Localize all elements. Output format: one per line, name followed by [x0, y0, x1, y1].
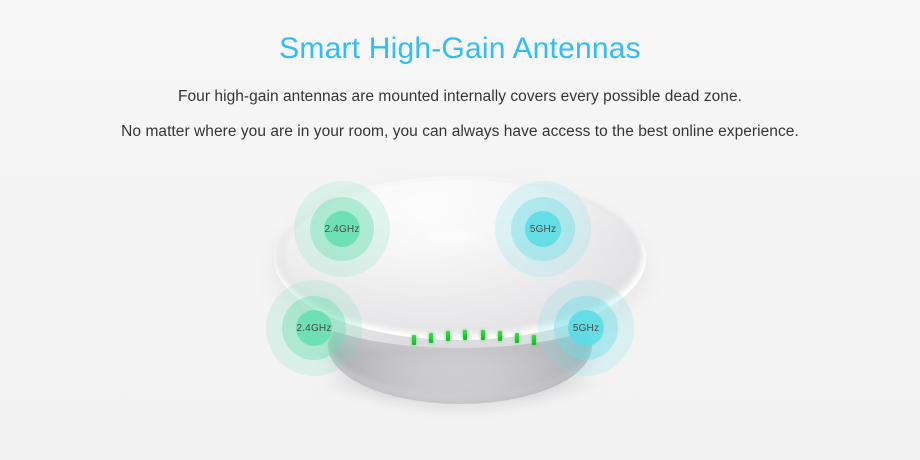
- router-led-indicator: [429, 333, 433, 343]
- header: Smart High-Gain Antennas Four high-gain …: [0, 0, 920, 143]
- signal-label-2-4ghz-bottom-left: 2.4GHz: [296, 323, 331, 334]
- router-led-indicator: [498, 331, 502, 341]
- signal-badge-bottom-left: 2.4GHz: [266, 280, 362, 376]
- signal-badge-top-right: 5GHz: [495, 181, 591, 277]
- page-title: Smart High-Gain Antennas: [0, 0, 920, 68]
- router-led-indicator: [446, 331, 450, 341]
- router-led-indicator: [463, 330, 467, 340]
- router-led-strip: [412, 330, 532, 346]
- subtitle-line-1: Four high-gain antennas are mounted inte…: [0, 68, 920, 108]
- router-led-indicator: [532, 335, 536, 345]
- signal-label-5ghz-top-right: 5GHz: [530, 224, 556, 235]
- signal-label-2-4ghz-top-left: 2.4GHz: [324, 224, 359, 235]
- promo-banner: Smart High-Gain Antennas Four high-gain …: [0, 0, 920, 460]
- router-led-indicator: [515, 333, 519, 343]
- device-illustration: 2.4GHz 5GHz 2.4GHz 5GHz: [0, 170, 920, 460]
- subtitle-line-2: No matter where you are in your room, yo…: [0, 108, 920, 143]
- signal-badge-top-left: 2.4GHz: [294, 181, 390, 277]
- signal-label-5ghz-bottom-right: 5GHz: [573, 323, 599, 334]
- signal-badge-bottom-right: 5GHz: [538, 280, 634, 376]
- router-led-indicator: [412, 335, 416, 345]
- router-led-indicator: [481, 330, 485, 340]
